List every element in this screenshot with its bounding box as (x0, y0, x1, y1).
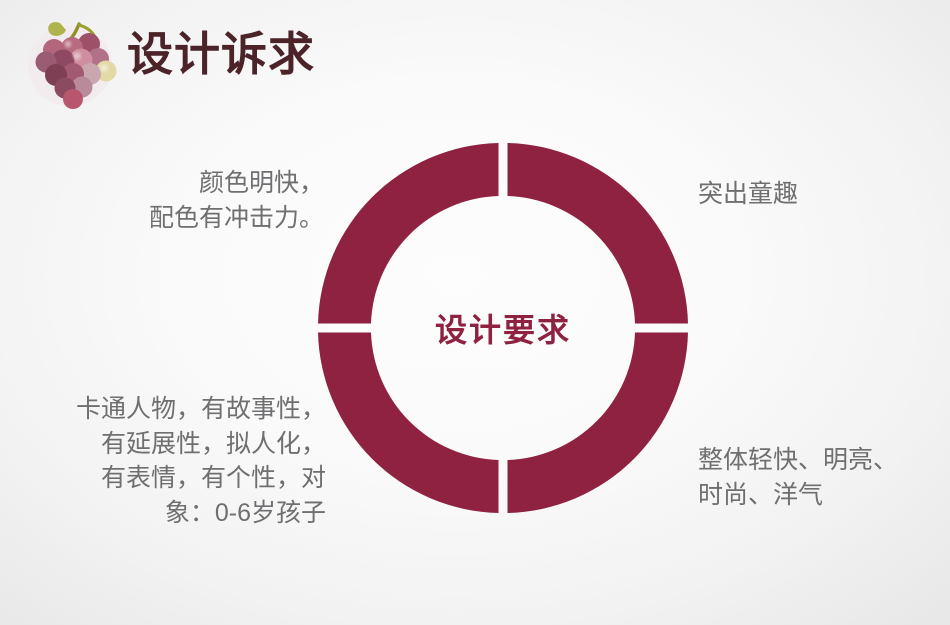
ring-segment-top-right[interactable] (508, 143, 689, 324)
callout-top-left: 颜色明快， 配色有冲击力。 (18, 166, 324, 235)
donut-ring-svg (317, 142, 689, 514)
ring-segment-bottom-right[interactable] (508, 333, 689, 514)
ring-segment-top-left[interactable] (318, 143, 499, 324)
callout-bottom-left: 卡通人物，有故事性， 有延展性，拟人化， 有表情，有个性，对 象：0-6岁孩子 (8, 392, 326, 530)
grape-cluster-icon (16, 8, 124, 114)
page-title: 设计诉求 (127, 26, 315, 84)
slide-header: 设计诉求 (0, 0, 950, 118)
callout-top-right: 突出童趣 (698, 177, 942, 212)
ring-segment-bottom-left[interactable] (318, 333, 499, 514)
callout-bottom-right: 整体轻快、明亮、 时尚、洋气 (698, 443, 944, 512)
slide-canvas: 设计诉求 设计要求 颜色明快， 配色有冲击力。 突出童趣 卡通人物，有故事性， … (0, 0, 950, 625)
donut-diagram: 设计要求 (317, 142, 689, 514)
